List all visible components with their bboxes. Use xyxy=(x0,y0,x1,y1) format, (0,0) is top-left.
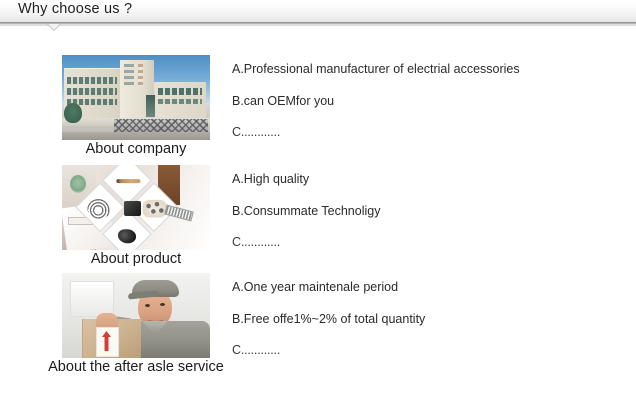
window-band-right-upper xyxy=(158,88,202,95)
building-entrance xyxy=(146,95,155,117)
black-fitting-item xyxy=(118,229,136,243)
background-panel xyxy=(70,281,114,317)
road-region xyxy=(62,132,210,140)
delivery-service-photo xyxy=(62,273,210,358)
tower-accent-strip xyxy=(138,64,143,86)
bullet-item: A.High quality xyxy=(232,173,612,186)
window-band-right-lower xyxy=(158,99,202,104)
coiled-cable-item xyxy=(87,199,111,219)
tree-icon xyxy=(64,103,82,123)
copper-rod-item xyxy=(116,179,140,183)
service-thumbnail[interactable] xyxy=(62,273,210,358)
bullet-item: C............ xyxy=(232,344,612,357)
spool-set-item xyxy=(143,200,167,218)
company-building-photo xyxy=(62,55,210,140)
window-band-upper xyxy=(67,77,117,84)
product-thumbnail[interactable] xyxy=(62,165,210,250)
bullet-item: C............ xyxy=(232,236,612,249)
window-band-middle xyxy=(67,88,117,95)
company-bullet-list: A.Professional manufacturer of electrial… xyxy=(232,63,612,139)
bullet-item: C............ xyxy=(232,126,612,139)
caption-about-service: About the after asle service xyxy=(16,359,256,375)
company-thumbnail[interactable] xyxy=(62,55,210,140)
courier-eye-left xyxy=(145,304,150,307)
caption-about-product: About product xyxy=(62,251,210,267)
plant-icon xyxy=(70,175,86,193)
header-notch-inner-icon xyxy=(48,24,60,30)
service-bullet-list: A.One year maintenale period B.Free offe… xyxy=(232,281,612,357)
courier-eye-right xyxy=(160,303,165,306)
bullet-item: A.One year maintenale period xyxy=(232,281,612,294)
product-bullet-list: A.High quality B.Consummate Technoligy C… xyxy=(232,173,612,249)
product-collage-photo xyxy=(62,165,210,250)
header-divider xyxy=(0,22,636,24)
bullet-item: B.Consummate Technoligy xyxy=(232,205,612,218)
tower-window-strip xyxy=(124,64,134,86)
accordion-gate xyxy=(114,119,208,132)
page-title: Why choose us ? xyxy=(18,1,132,17)
bullet-item: A.Professional manufacturer of electrial… xyxy=(232,63,612,76)
bullet-item: B.Free offe1%~2% of total quantity xyxy=(232,313,612,326)
black-adapter-item xyxy=(124,201,141,216)
bullet-item: B.can OEMfor you xyxy=(232,95,612,108)
caption-about-company: About company xyxy=(62,141,210,157)
